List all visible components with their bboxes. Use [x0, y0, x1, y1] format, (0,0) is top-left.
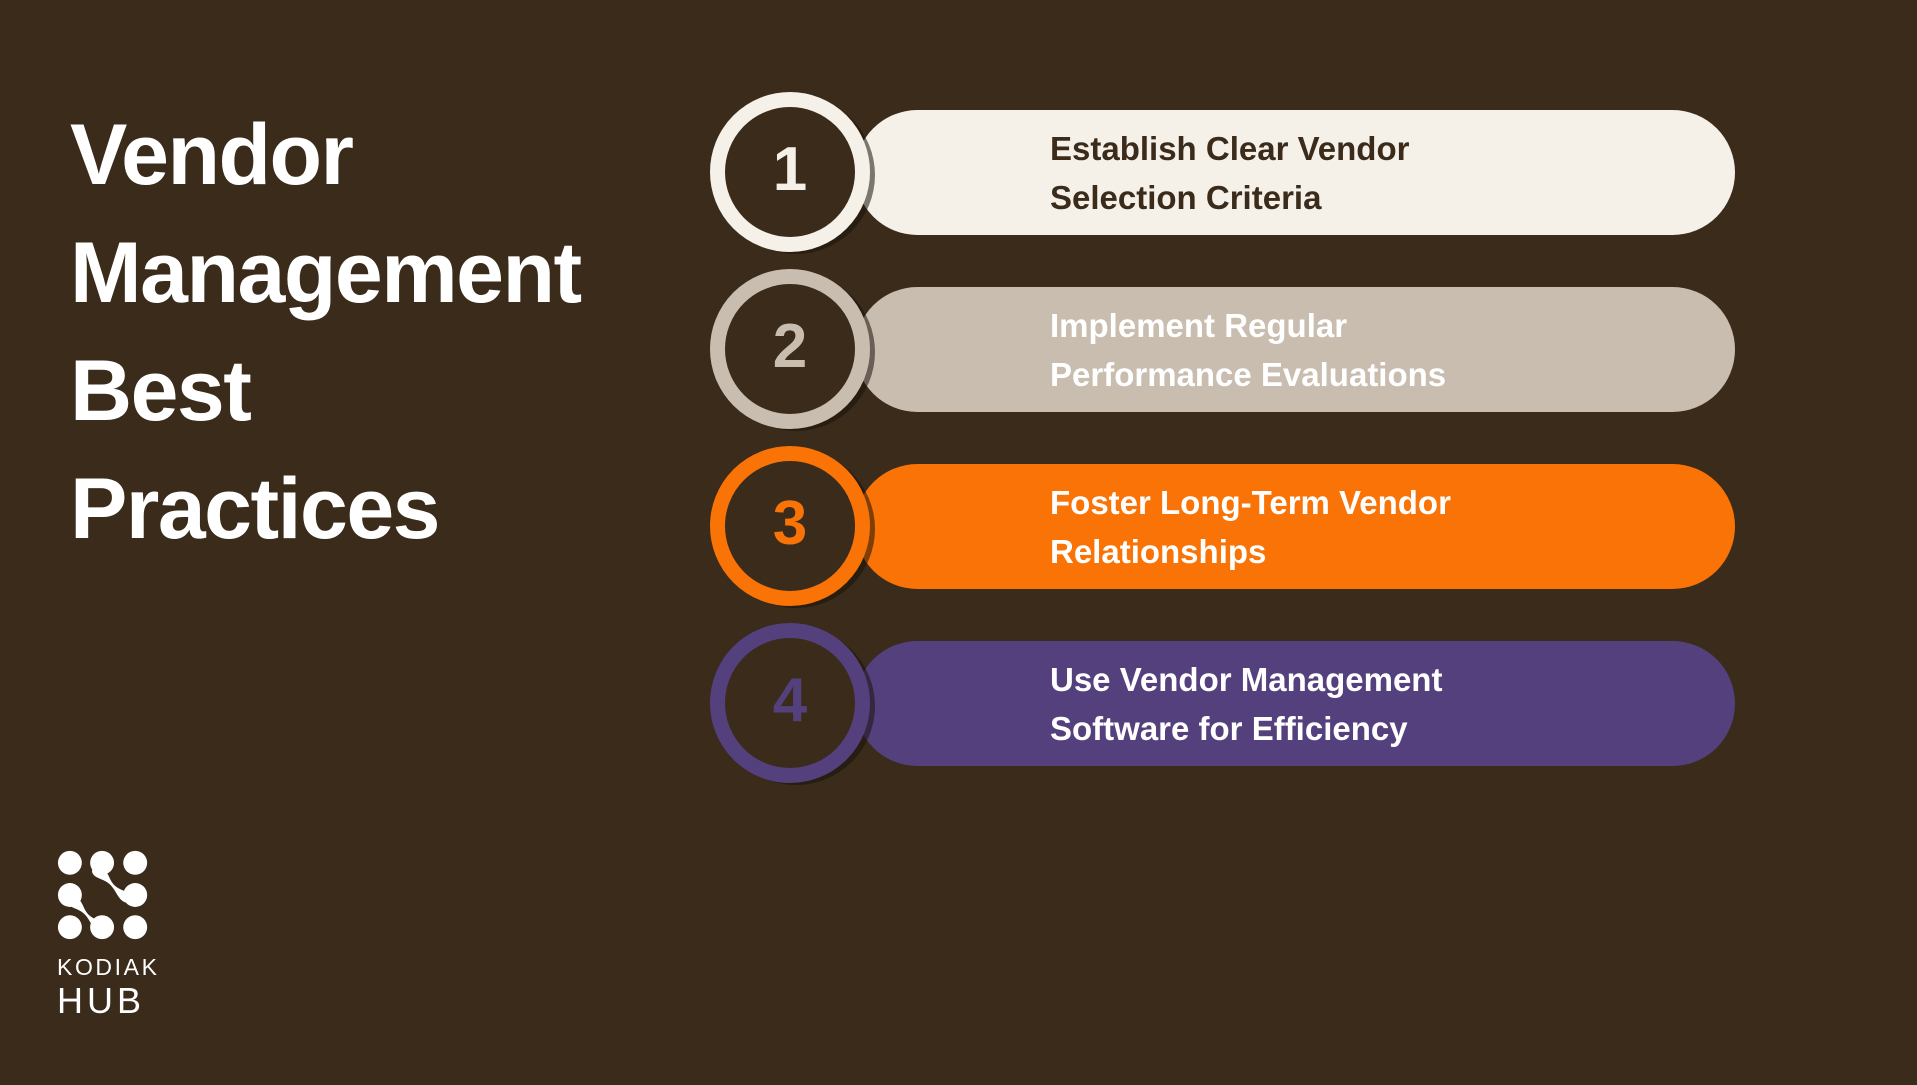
- practice-card-2-line-2: Performance Evaluations: [1050, 356, 1446, 393]
- practice-card-3[interactable]: Foster Long-Term Vendor Relationships: [855, 464, 1735, 589]
- best-practices-list: Establish Clear Vendor Selection Criteri…: [700, 92, 1840, 748]
- practice-card-1-text: Establish Clear Vendor Selection Criteri…: [1050, 124, 1409, 222]
- step-number-1: 1: [773, 139, 807, 201]
- practice-card-3-line-2: Relationships: [1050, 533, 1266, 570]
- step-badge-3: 3: [710, 446, 870, 606]
- practice-card-2[interactable]: Implement Regular Performance Evaluation…: [855, 287, 1735, 412]
- list-item[interactable]: Use Vendor Management Software for Effic…: [700, 623, 1840, 748]
- logo-wordmark-kodiak: KODIAK: [57, 954, 187, 981]
- list-item[interactable]: Implement Regular Performance Evaluation…: [700, 269, 1840, 394]
- practice-card-2-text: Implement Regular Performance Evaluation…: [1050, 301, 1446, 399]
- step-number-2: 2: [773, 316, 807, 378]
- page-title-line-2: Management: [70, 214, 710, 332]
- practice-card-1-line-2: Selection Criteria: [1050, 179, 1321, 216]
- practice-card-4-line-2: Software for Efficiency: [1050, 710, 1408, 747]
- step-number-4: 4: [773, 670, 807, 732]
- practice-card-4-line-1: Use Vendor Management: [1050, 661, 1442, 698]
- practice-card-2-line-1: Implement Regular: [1050, 307, 1347, 344]
- page-title-line-3: Best: [70, 332, 710, 450]
- practice-card-4-text: Use Vendor Management Software for Effic…: [1050, 655, 1442, 753]
- kodiak-hub-nodes-icon: [57, 849, 149, 941]
- page-title-line-4: Practices: [70, 450, 710, 568]
- practice-card-1-line-1: Establish Clear Vendor: [1050, 130, 1409, 167]
- page-title: Vendor Management Best Practices: [70, 96, 710, 568]
- practice-card-4[interactable]: Use Vendor Management Software for Effic…: [855, 641, 1735, 766]
- step-number-3: 3: [773, 493, 807, 555]
- brand-logo: KODIAK HUB: [57, 849, 187, 1020]
- practice-card-1[interactable]: Establish Clear Vendor Selection Criteri…: [855, 110, 1735, 235]
- step-badge-4: 4: [710, 623, 870, 783]
- step-badge-2: 2: [710, 269, 870, 429]
- step-badge-1: 1: [710, 92, 870, 252]
- list-item[interactable]: Foster Long-Term Vendor Relationships 3: [700, 446, 1840, 571]
- page-title-line-1: Vendor: [70, 96, 710, 214]
- logo-wordmark-hub: HUB: [57, 982, 187, 1020]
- practice-card-3-text: Foster Long-Term Vendor Relationships: [1050, 478, 1451, 576]
- list-item[interactable]: Establish Clear Vendor Selection Criteri…: [700, 92, 1840, 217]
- practice-card-3-line-1: Foster Long-Term Vendor: [1050, 484, 1451, 521]
